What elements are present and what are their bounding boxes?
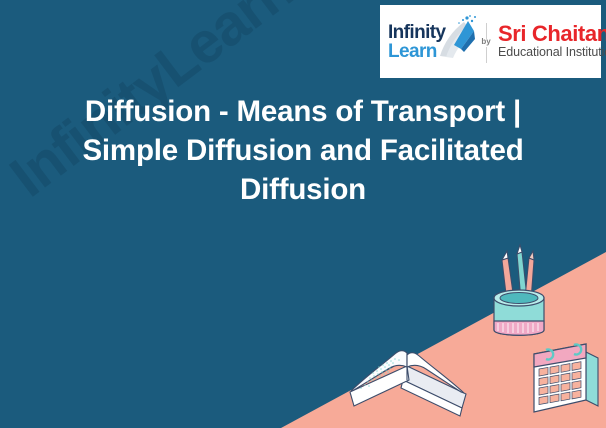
logo-connector: by — [478, 37, 494, 46]
sri-chaitanya-logo: Sri Chaitanya Educational Institutions — [494, 23, 606, 60]
calendar-icon — [528, 332, 604, 420]
open-book-icon — [336, 320, 478, 424]
title-line-2: Simple Diffusion and Facilitated — [32, 131, 574, 170]
pencil-cup-illustration — [486, 242, 552, 344]
open-book-illustration — [336, 320, 478, 424]
infinity-learn-logo: Infinity Learn — [386, 11, 478, 73]
arrow-swoosh-icon — [434, 15, 478, 61]
title-line-1: Diffusion - Means of Transport | — [32, 92, 574, 131]
title-line-3: Diffusion — [32, 170, 574, 209]
logo-divider-bottom — [486, 47, 487, 63]
logo-divider-top — [486, 23, 487, 39]
brand-logo-card: Infinity Learn by Sri Chaitanya Educatio… — [380, 5, 601, 78]
pencil-cup-icon — [486, 242, 552, 344]
thumbnail-canvas: InfinityLearn.com — [0, 0, 606, 428]
partner-subtitle: Educational Institutions — [498, 45, 606, 60]
partner-name: Sri Chaitanya — [498, 23, 606, 45]
infinity-learn-word-learn: Learn — [388, 42, 437, 61]
page-title: Diffusion - Means of Transport | Simple … — [32, 92, 574, 210]
desk-calendar-illustration — [528, 332, 604, 420]
